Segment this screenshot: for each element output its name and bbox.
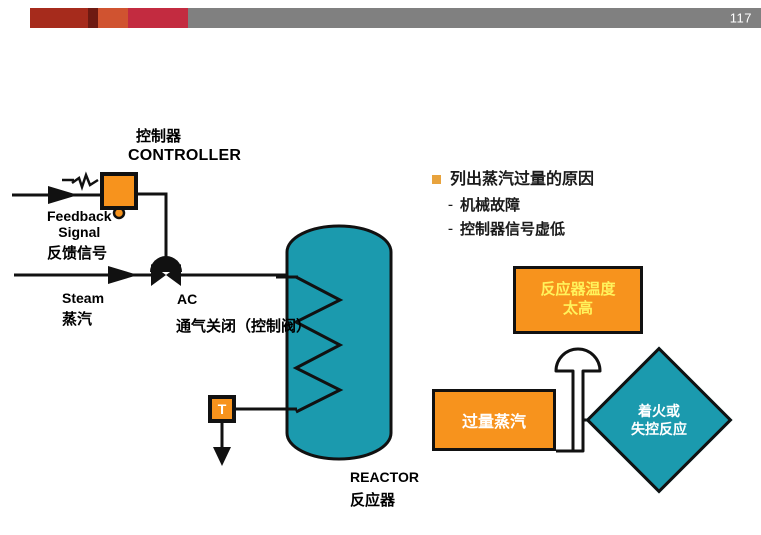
excess-steam-label: 过量蒸汽 [462, 408, 526, 432]
header-segment-crimson [128, 8, 188, 28]
reactor-temperature-line1: 反应器温度 [540, 281, 615, 300]
dash-icon: - [448, 197, 453, 214]
reactor-temperature-line2: 太高 [563, 300, 593, 319]
steam-label-en: Steam [62, 290, 104, 306]
bullet-item-main: 列出蒸汽过量的原因 [432, 170, 732, 189]
header-segment-pad [0, 8, 30, 28]
header-segment-maroon [88, 8, 98, 28]
header-segment-brick [30, 8, 88, 28]
fire-runaway-line1: 着火或 [638, 402, 680, 420]
header-bar: 117 [0, 8, 761, 28]
reactor-label-en: REACTOR [350, 469, 419, 485]
slide-canvas: 117 [0, 0, 761, 535]
bullet-sub-text: 机械故障 [460, 197, 520, 215]
sensor-drain-arrow [213, 423, 231, 466]
escalation-up-arrow [556, 349, 600, 451]
controller-output-line [138, 194, 166, 253]
fire-runaway-diamond[interactable]: 着火或 失控反应 [607, 368, 711, 472]
valve-label-cn: 通气关闭（控制阀） [176, 318, 311, 335]
reactor-vessel [287, 226, 391, 459]
header-segment-gray: 117 [188, 8, 761, 28]
setpoint-squiggle [62, 175, 98, 187]
controller-block[interactable] [100, 172, 138, 210]
feedback-signal-line [12, 186, 100, 204]
bullet-sub-item: - 控制器信号虚低 [448, 221, 732, 239]
reactor-label-cn: 反应器 [350, 492, 395, 509]
reactor-temperature-box[interactable]: 反应器温度 太高 [513, 266, 643, 334]
steam-line [14, 266, 295, 284]
feedback-signal-label-line2: Signal [47, 224, 112, 240]
coil-connection-lines [236, 277, 298, 409]
feedback-signal-label-line1: Feedback [47, 208, 112, 224]
controller-label-en: CONTROLLER [128, 147, 241, 165]
bullet-list: 列出蒸汽过量的原因 - 机械故障 - 控制器信号虚低 [432, 170, 732, 245]
temperature-sensor-box[interactable]: T [208, 395, 236, 423]
feedback-signal-label-cn: 反馈信号 [47, 245, 107, 262]
bullet-square-icon [432, 175, 441, 184]
dash-icon: - [448, 221, 453, 238]
control-valve-body [151, 264, 181, 286]
excess-steam-box[interactable]: 过量蒸汽 [432, 389, 556, 451]
valve-actuator-dome [150, 253, 182, 272]
controller-label-cn: 控制器 [136, 128, 181, 145]
fire-runaway-line2: 失控反应 [631, 420, 687, 438]
page-number: 117 [730, 12, 752, 25]
feedback-signal-label-en: Feedback Signal [47, 208, 112, 240]
bullet-sub-item: - 机械故障 [448, 197, 732, 215]
temperature-sensor-label: T [218, 402, 227, 416]
header-segment-orange [98, 8, 128, 28]
reactor-heating-coil [296, 277, 340, 412]
bullet-main-text: 列出蒸汽过量的原因 [450, 170, 594, 189]
fire-runaway-diamond-text: 着火或 失控反应 [607, 368, 711, 472]
steam-label-cn: 蒸汽 [62, 311, 92, 328]
bullet-sub-text: 控制器信号虚低 [460, 221, 565, 239]
valve-tag-label: AC [177, 291, 197, 307]
